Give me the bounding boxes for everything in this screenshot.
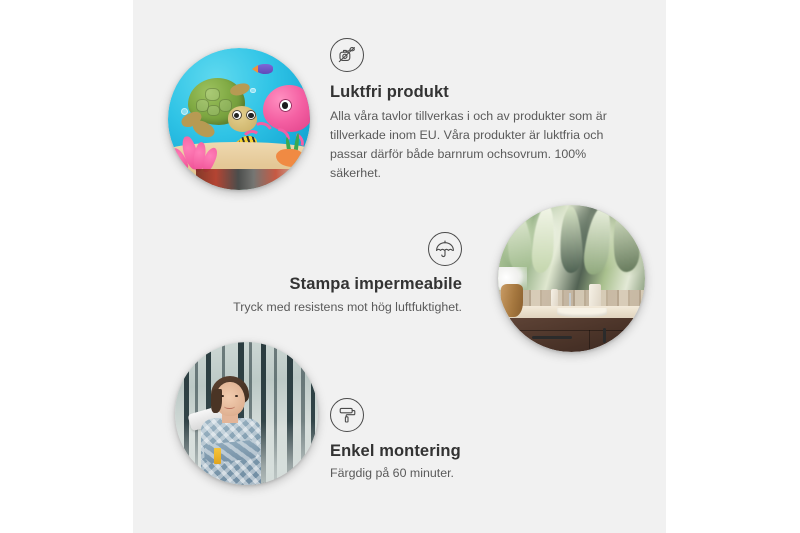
cabinet-seam — [510, 330, 645, 332]
forest-artwork — [175, 342, 318, 485]
wallpaper-leaf — [502, 208, 534, 274]
handheld-tool — [214, 448, 221, 464]
feature-easy-mounting: Enkel montering Färgdig på 60 minuter. — [330, 398, 610, 483]
medallion-woman-with-paint-roller-forest — [175, 342, 318, 485]
feature-odourless: Luktfri produkt Alla våra tavlor tillver… — [330, 38, 624, 182]
feature-banner: Luktfri produkt Alla våra tavlor tillver… — [0, 0, 800, 533]
wallpaper-leaf — [582, 205, 614, 276]
fish-tail — [252, 65, 258, 73]
umbrella-icon — [428, 232, 462, 266]
feature-title: Luktfri produkt — [330, 83, 624, 102]
wood-vanity-cabinet — [510, 318, 645, 352]
wallpaper-leaf — [609, 207, 641, 273]
paint-roller-icon — [330, 398, 364, 432]
octopus-eye — [279, 99, 292, 112]
feature-waterproof-print: Stampa impermeabile Tryck med resistens … — [168, 232, 462, 317]
feature-title: Enkel montering — [330, 442, 610, 461]
wallpaper-leaf — [558, 207, 583, 274]
feature-title: Stampa impermeabile — [168, 275, 462, 294]
foreground-strip — [196, 169, 307, 190]
fish-purple — [256, 64, 273, 74]
copper-vase — [501, 284, 523, 316]
door-handle — [603, 328, 606, 343]
sink-basin — [557, 308, 607, 317]
cabinet-seam — [589, 330, 591, 352]
wallpaper-leaf — [531, 205, 556, 274]
drawer-handle — [532, 336, 572, 339]
feature-body: Tryck med resistens mot hög luftfuktighe… — [168, 298, 462, 317]
feature-body: Färgdig på 60 minuter. — [330, 464, 610, 483]
turtle-scute — [207, 105, 219, 116]
underwater-artwork — [168, 48, 310, 190]
medallion-underwater-cartoon-mural — [168, 48, 310, 190]
feature-body: Alla våra tavlor tillverkas i och av pro… — [330, 107, 624, 182]
no-fragrance-icon — [330, 38, 364, 72]
bathroom-artwork — [498, 205, 645, 352]
soap-bottle — [551, 289, 558, 308]
medallion-bathroom-botanical-wallpaper — [498, 205, 645, 352]
